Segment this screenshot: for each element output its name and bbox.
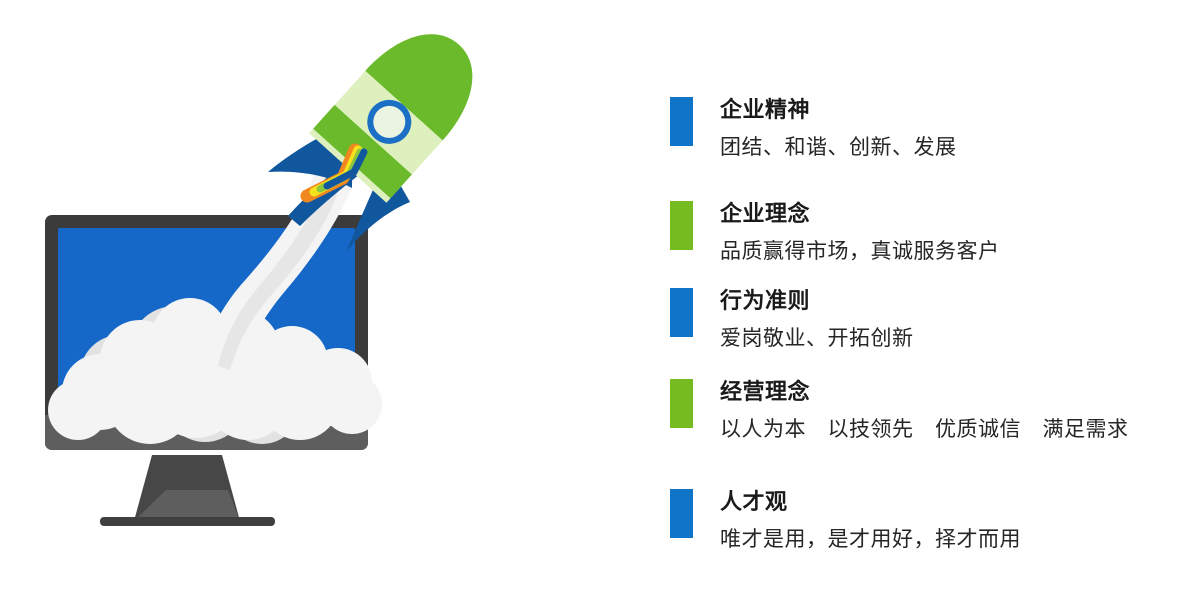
marker-bar-3 — [670, 379, 693, 428]
culture-heading-4: 人才观 — [720, 487, 1185, 517]
culture-body-0: 团结、和谐、创新、发展 — [720, 132, 1185, 164]
culture-body-4: 唯才是用，是才用好，择才而用 — [720, 524, 1185, 556]
culture-text-column: 企业精神 团结、和谐、创新、发展 企业理念 品质赢得市场，真诚服务客户 行为准则… — [665, 0, 1185, 606]
culture-body-3: 以人为本 以技领先 优质诚信 满足需求 — [720, 414, 1185, 446]
marker-bar-2 — [670, 288, 693, 337]
culture-heading-1: 企业理念 — [720, 199, 1185, 229]
culture-body-1: 品质赢得市场，真诚服务客户 — [720, 236, 1185, 268]
culture-block-text-1: 企业理念 品质赢得市场，真诚服务客户 — [720, 199, 1185, 268]
monitor-stand-group — [100, 455, 275, 526]
culture-heading-0: 企业精神 — [720, 95, 1185, 125]
culture-block-text-3: 经营理念 以人为本 以技领先 优质诚信 满足需求 — [720, 377, 1185, 446]
culture-block-text-2: 行为准则 爱岗敬业、开拓创新 — [720, 286, 1185, 355]
culture-block-text-0: 企业精神 团结、和谐、创新、发展 — [720, 95, 1185, 164]
culture-heading-3: 经营理念 — [720, 377, 1185, 407]
culture-block-text-4: 人才观 唯才是用，是才用好，择才而用 — [720, 487, 1185, 556]
culture-heading-2: 行为准则 — [720, 286, 1185, 316]
rocket-monitor-illustration — [0, 0, 560, 606]
monitor-foot-bar — [100, 517, 275, 526]
culture-body-2: 爱岗敬业、开拓创新 — [720, 323, 1185, 355]
slide-canvas: 企业精神 团结、和谐、创新、发展 企业理念 品质赢得市场，真诚服务客户 行为准则… — [0, 0, 1197, 606]
marker-bar-1 — [670, 201, 693, 250]
marker-bar-4 — [670, 489, 693, 538]
rocket-group — [268, 10, 498, 252]
marker-bar-0 — [670, 97, 693, 146]
